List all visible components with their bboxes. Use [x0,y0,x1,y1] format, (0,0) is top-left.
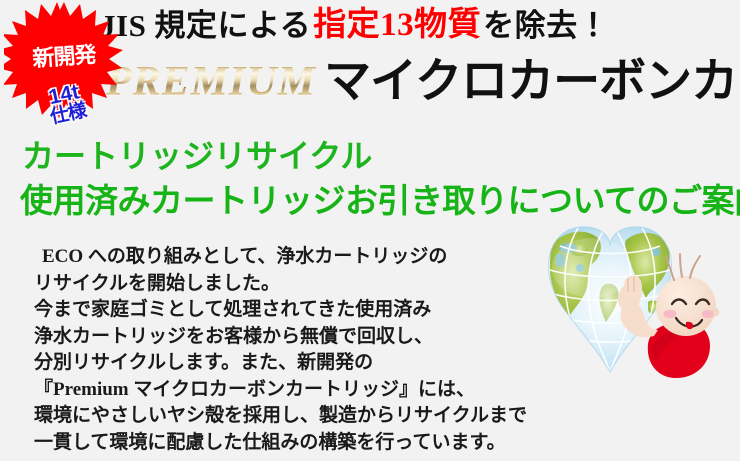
body-line: 今まで家庭ゴミとして処理されてきた使用済み [34,297,554,324]
product-title: PREMIUM マイクロカーボンカートリッジ [106,48,740,116]
body-copy: ECO への取り組みとして、浄水カートリッジの リサイクルを開始しました。 今ま… [34,244,554,456]
new-development-badge: 新開発 14t 仕様 [4,0,124,135]
body-line: 『Premium マイクロカーボンカートリッジ』には、 [34,377,554,404]
headline: JIS 規定による 指定13物質 を除去！ [100,2,740,48]
product-name: マイクロカーボンカートリッジ [324,59,740,106]
section-heading-collection: 使用済みカートリッジお引き取りについてのご案内 [20,186,740,219]
recycle-banner: 新開発 14t 仕様 JIS 規定による 指定13物質 を除去！ PREMIUM… [0,0,740,461]
brand-premium: PREMIUM [106,58,324,106]
body-line: 分別リサイクルします。また、新開発の [34,350,554,377]
section-heading-recycle: カートリッジリサイクル [22,140,372,172]
headline-emphasis: 指定13物質 [311,9,483,42]
body-line: 環境にやさしいヤシ殻を採用し、製造からリサイクルまで [34,403,554,430]
headline-prefix: JIS 規定による [100,10,311,41]
body-line: 一貫して環境に配慮した仕組みの構築を行っています。 [34,430,554,457]
body-line: ECO への取り組みとして、浄水カートリッジの [34,244,554,271]
body-line: 浄水カートリッジをお客様から無償で回収し、 [34,324,554,351]
body-line: リサイクルを開始しました。 [34,271,554,298]
heart-globe-illustration [520,224,740,434]
headline-suffix: を除去！ [483,10,609,41]
